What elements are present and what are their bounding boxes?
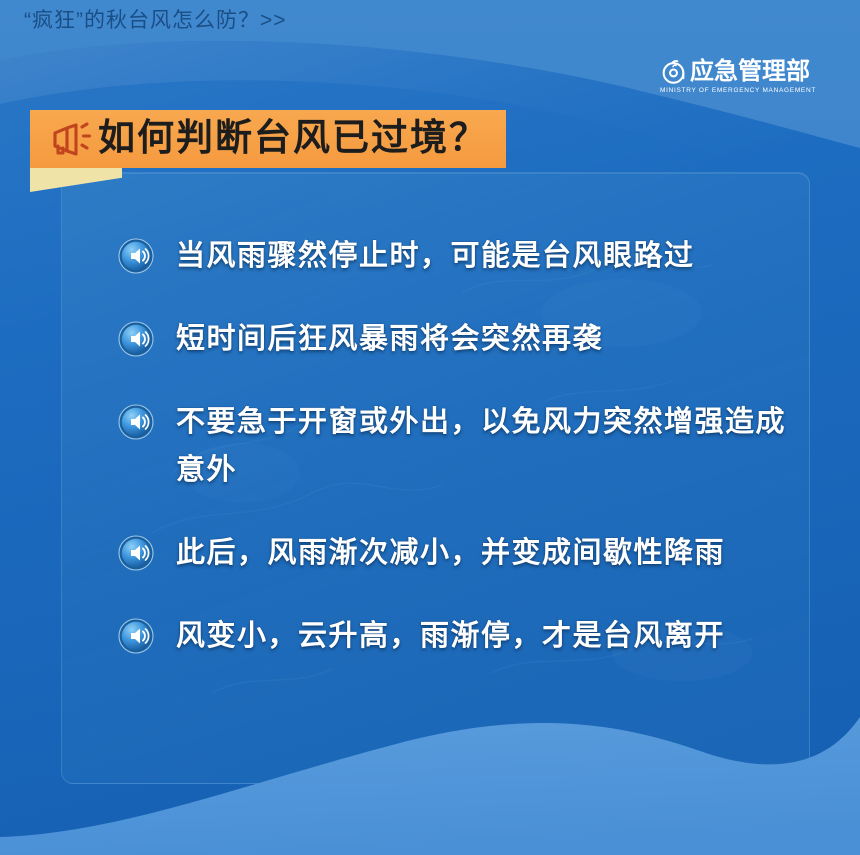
list-item: 不要急于开窗或外出，以免风力突然增强造成意外: [118, 398, 798, 494]
list-item: 当风雨骤然停止时，可能是台风眼路过: [118, 232, 798, 280]
ministry-logo: 应急管理部 MINISTRY OF EMERGENCY MANAGEMENT: [660, 58, 810, 96]
bottom-wave-decoration: [0, 665, 860, 855]
list-item: 短时间后狂风暴雨将会突然再袭: [118, 315, 798, 363]
list-item-text: 不要急于开窗或外出，以免风力突然增强造成意外: [176, 398, 798, 494]
tips-list: 当风雨骤然停止时，可能是台风眼路过: [118, 232, 798, 660]
megaphone-icon: [42, 119, 94, 159]
speaker-volume-icon: [118, 238, 154, 274]
banner-title-text: 如何判断台风已过境？: [98, 119, 488, 159]
title-banner: 如何判断台风已过境？: [30, 110, 506, 168]
list-item-text: 短时间后狂风暴雨将会突然再袭: [176, 315, 603, 363]
logo-name-en: MINISTRY OF EMERGENCY MANAGEMENT: [660, 86, 810, 97]
at-sign-wifi-icon: [660, 58, 687, 85]
speaker-volume-icon: [118, 535, 154, 571]
poster-root: “疯狂”的秋台风怎么防？>>: [0, 0, 860, 855]
list-item-text: 当风雨骤然停止时，可能是台风眼路过: [176, 232, 695, 280]
speaker-volume-icon: [118, 618, 154, 654]
list-item: 此后，风雨渐次减小，并变成间歇性降雨: [118, 529, 798, 577]
logo-name-cn: 应急管理部: [690, 59, 810, 85]
logo-row: 应急管理部: [660, 58, 810, 85]
list-item-text: 风变小，云升高，雨渐停，才是台风离开: [176, 612, 725, 660]
speaker-volume-icon: [118, 321, 154, 357]
list-item: 风变小，云升高，雨渐停，才是台风离开: [118, 612, 798, 660]
list-item-text: 此后，风雨渐次减小，并变成间歇性降雨: [176, 529, 725, 577]
speaker-volume-icon: [118, 404, 154, 440]
